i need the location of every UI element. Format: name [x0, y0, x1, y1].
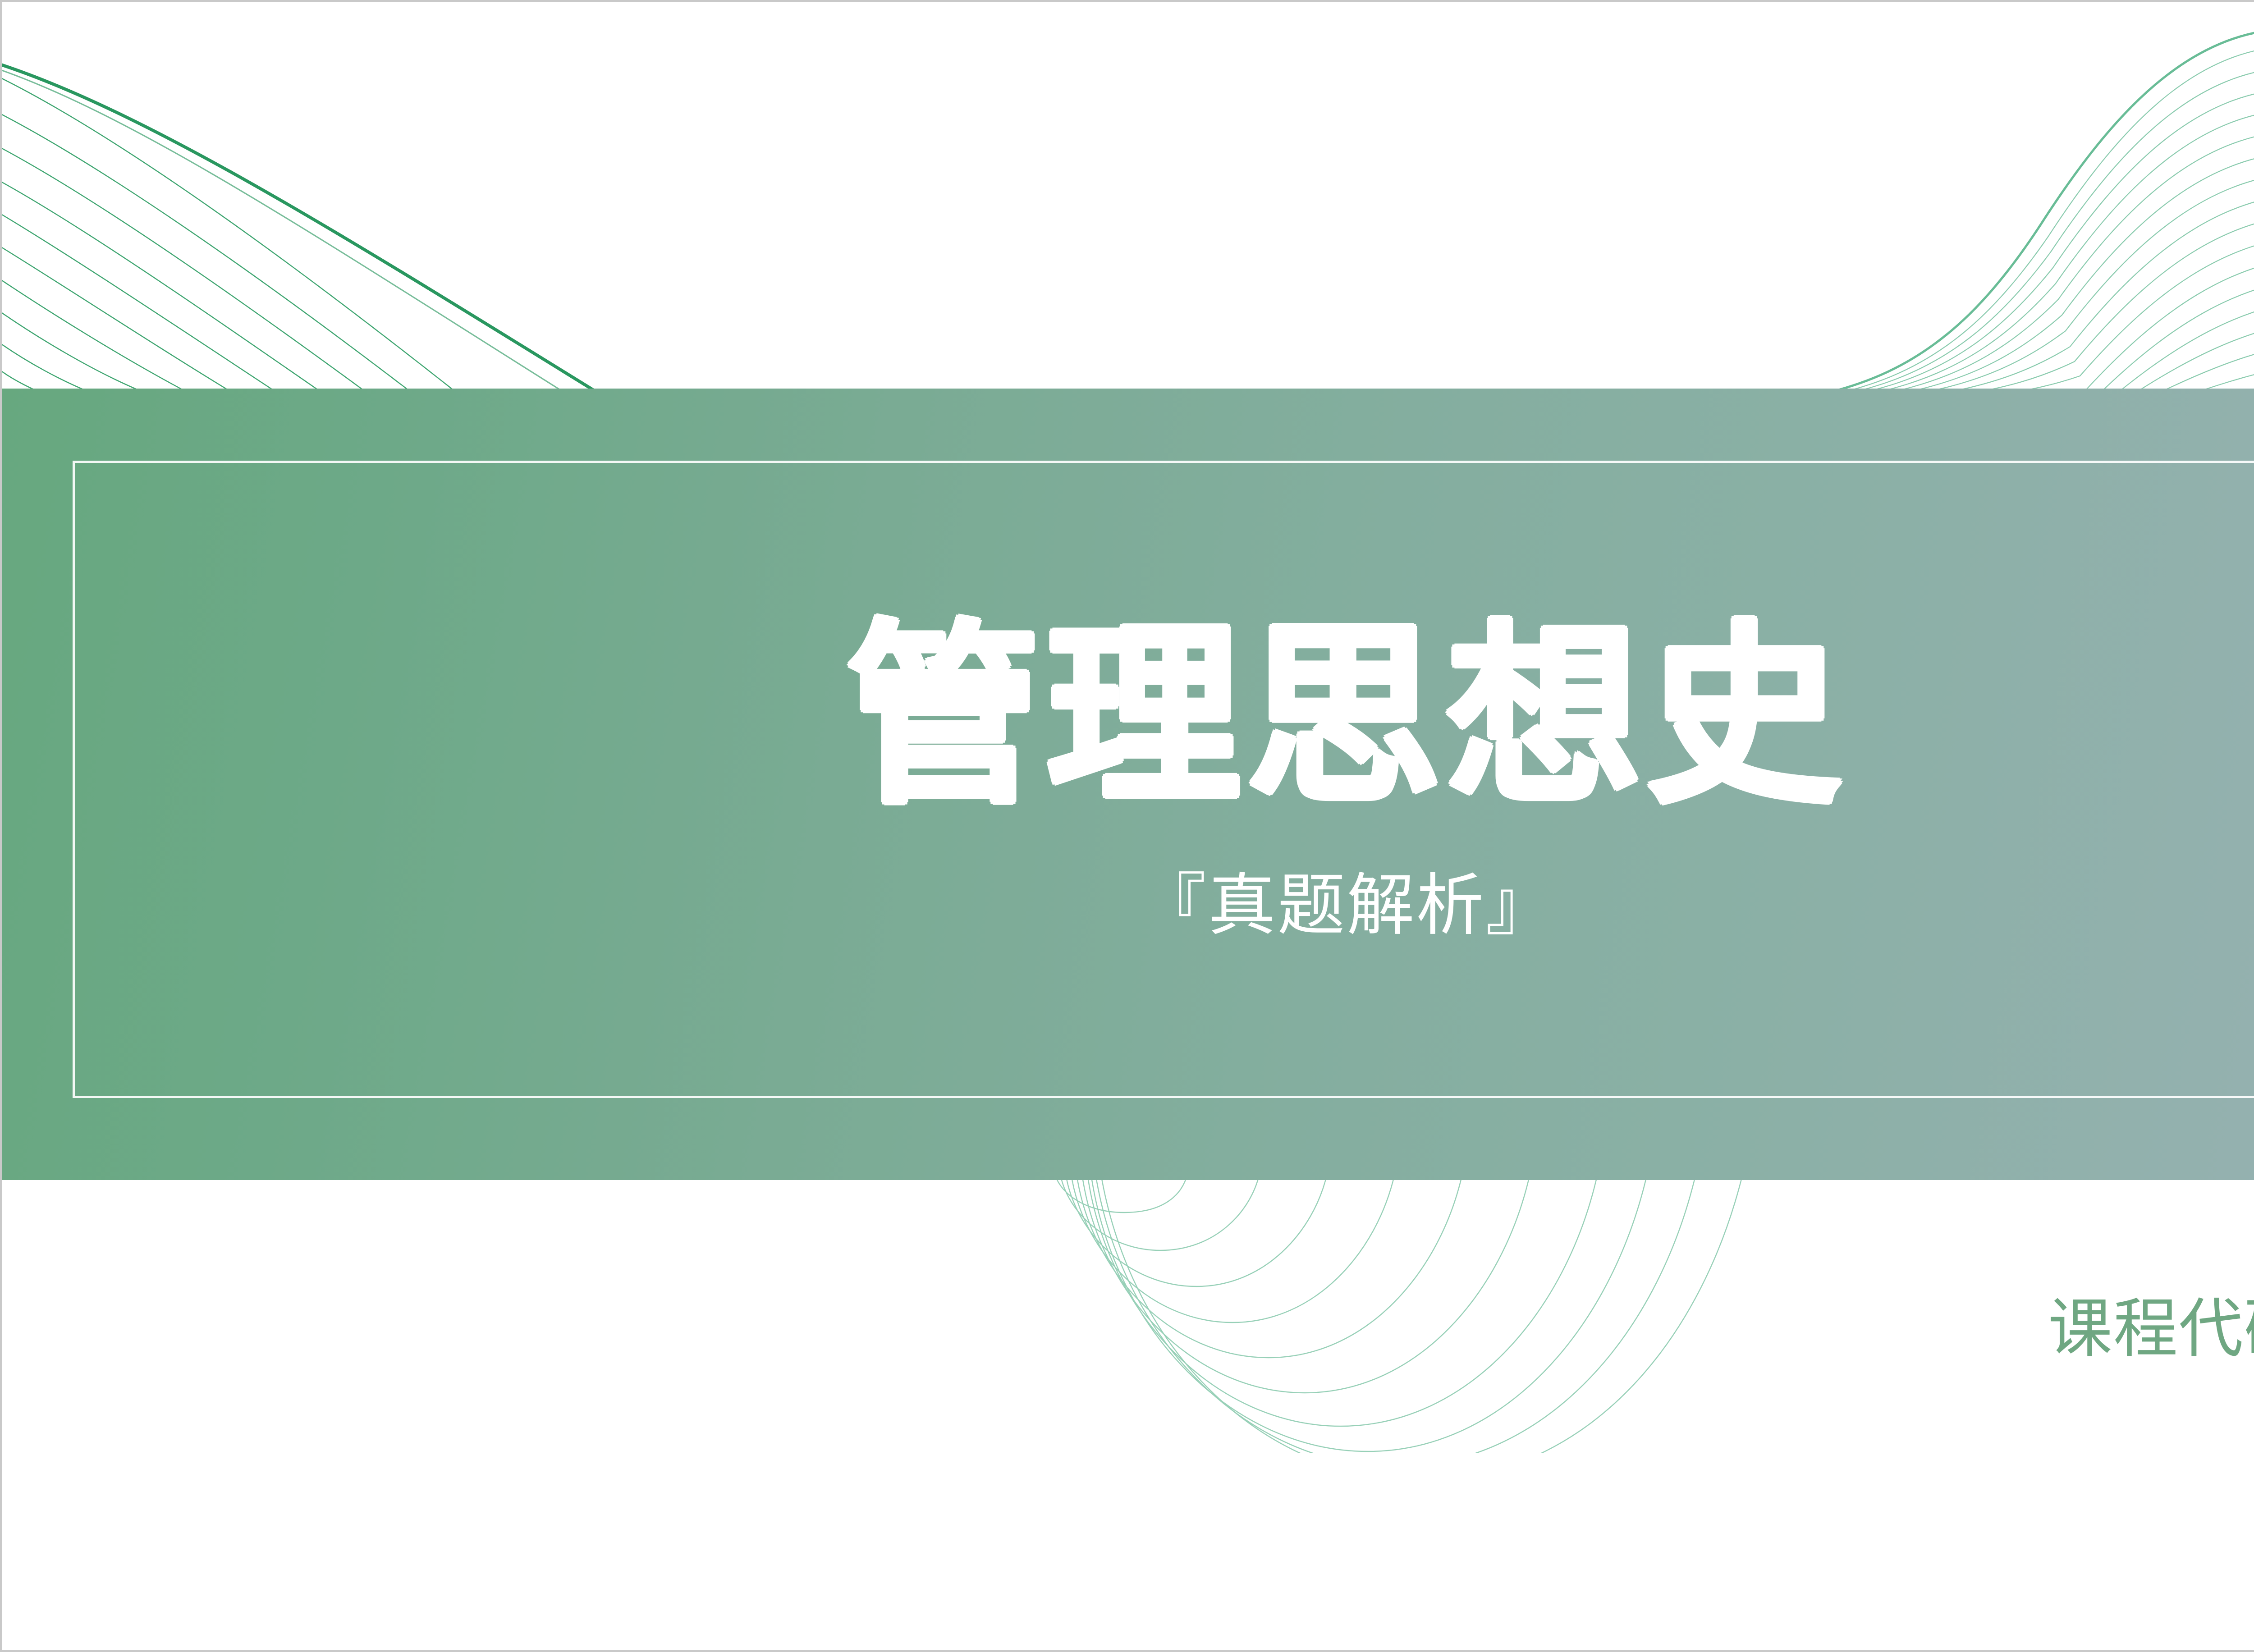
nested-arc-pattern-icon — [971, 1174, 1828, 1453]
course-code: 课程代码： 06088 — [2048, 1294, 2254, 1361]
page-subtitle: 『真题解析』 — [1138, 871, 1555, 939]
page-title: 管理思想史 — [847, 620, 1847, 814]
course-code-label: 课程代码： — [2048, 1297, 2254, 1361]
wave-fan-pattern-icon — [1607, 2, 2254, 416]
title-block: 管理思想史 『真题解析』 — [73, 461, 2254, 1098]
slide-canvas: 管理思想史 『真题解析』 课程代码： 06088 — [0, 0, 2254, 1652]
fan-lines-pattern-icon — [2, 2, 903, 407]
